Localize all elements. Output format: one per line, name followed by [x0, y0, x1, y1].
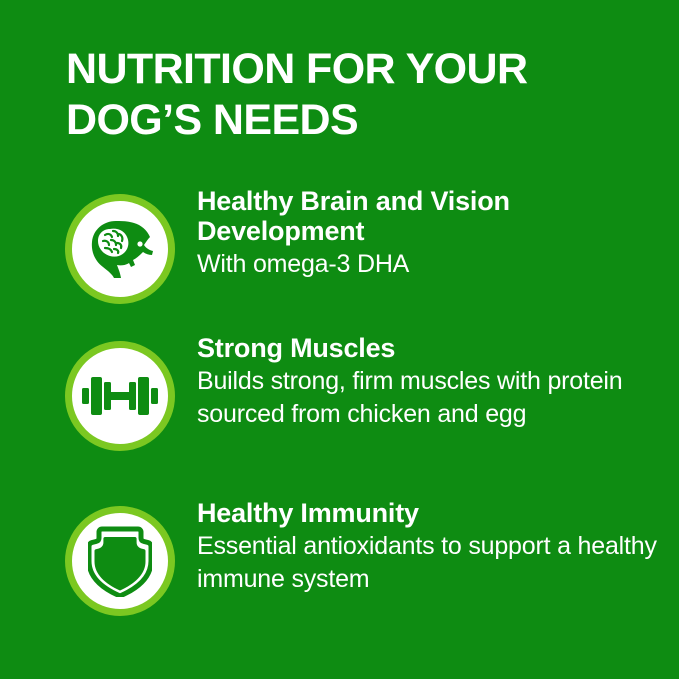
- benefit-icon-badge: [65, 506, 175, 616]
- dog-brain-icon: [83, 218, 157, 280]
- benefit-title: Strong Muscles: [197, 333, 657, 363]
- benefit-icon-badge: [65, 341, 175, 451]
- benefit-title: Healthy Brain and Vision Development: [197, 186, 657, 246]
- benefit-text-block: Healthy Immunity Essential antioxidants …: [197, 498, 657, 596]
- nutrition-infographic: NUTRITION FOR YOUR DOG’S NEEDS: [0, 0, 679, 679]
- page-title-line-1: NUTRITION FOR YOUR: [66, 44, 626, 95]
- benefit-description: With omega-3 DHA: [197, 248, 657, 281]
- benefit-text-block: Healthy Brain and Vision Development Wit…: [197, 186, 657, 281]
- page-title-line-2: DOG’S NEEDS: [66, 95, 626, 146]
- benefit-title: Healthy Immunity: [197, 498, 657, 528]
- benefit-description: Builds strong, firm muscles with protein…: [197, 365, 657, 431]
- benefit-text-block: Strong Muscles Builds strong, firm muscl…: [197, 333, 657, 431]
- benefit-icon-badge: [65, 194, 175, 304]
- page-title: NUTRITION FOR YOUR DOG’S NEEDS: [66, 44, 626, 146]
- benefit-description: Essential antioxidants to support a heal…: [197, 530, 657, 596]
- shield-icon: [88, 525, 152, 597]
- dumbbell-icon: [82, 373, 158, 419]
